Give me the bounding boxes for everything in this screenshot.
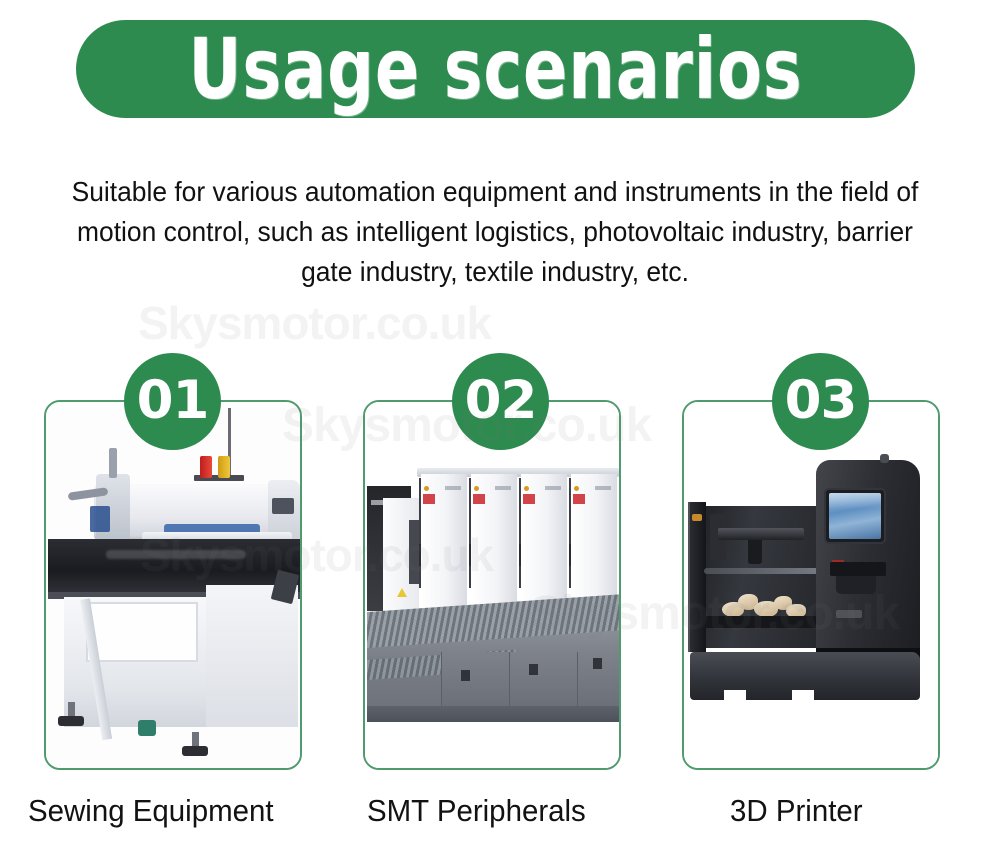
smt-drawer-handle xyxy=(529,664,538,675)
smt-module-label xyxy=(545,486,561,490)
smt-base-drawer xyxy=(509,652,577,710)
printer-door-hinge xyxy=(692,514,702,521)
smt-peripherals-photo xyxy=(365,402,619,768)
card-number-badge-02-label: 02 xyxy=(465,374,537,427)
sewing-needle-post xyxy=(109,448,117,478)
printer-control-shelf xyxy=(830,562,886,576)
card-number-badge-03-label: 03 xyxy=(785,374,857,427)
sewing-worktable-highlight xyxy=(106,550,246,559)
sewing-leveling-foot xyxy=(58,716,84,726)
printer-base-notch xyxy=(724,690,746,702)
printer-open-door xyxy=(690,502,706,652)
smt-status-led xyxy=(424,486,429,491)
sewing-blue-module xyxy=(90,506,110,532)
smt-status-led xyxy=(474,486,479,491)
sewing-equipment-photo xyxy=(46,402,300,768)
card-caption-smt-peripherals: SMT Peripherals xyxy=(367,792,586,830)
card-caption-3d-printer: 3D Printer xyxy=(730,792,863,830)
printer-top-knob xyxy=(880,454,889,463)
scenario-card-3d-printer[interactable] xyxy=(682,400,940,770)
printer-linear-rail xyxy=(704,568,832,574)
smt-base-plinth xyxy=(367,706,621,722)
smt-drawer-handle xyxy=(593,658,602,669)
printer-gantry-beam xyxy=(718,528,804,540)
card-number-badge-03: 03 xyxy=(772,353,869,450)
scenario-card-smt-peripherals[interactable] xyxy=(363,400,621,770)
smt-base-drawer xyxy=(441,652,509,710)
printer-print-head xyxy=(748,540,762,564)
card-number-badge-01: 01 xyxy=(124,353,221,450)
scenario-card-sewing-equipment[interactable] xyxy=(44,400,302,770)
sewing-cabinet-opening xyxy=(86,602,198,662)
smt-module-label xyxy=(595,486,611,490)
smt-status-led xyxy=(524,486,529,491)
sewing-machine-head-panel xyxy=(272,498,294,514)
card-number-badge-01-label: 01 xyxy=(137,374,209,427)
printer-build-plate xyxy=(706,616,818,628)
sewing-caster-wheel xyxy=(138,720,156,736)
3d-printer-photo xyxy=(684,402,938,768)
smt-module-badge xyxy=(423,494,435,504)
sewing-leveling-foot xyxy=(182,746,208,756)
smt-module-badge xyxy=(473,494,485,504)
smt-drawer-handle xyxy=(461,670,470,681)
smt-status-led xyxy=(574,486,579,491)
printer-screen-glare xyxy=(829,493,881,509)
scenario-card-grid: 01 02 03 Sewing Equipment SMT Peripheral… xyxy=(0,0,990,861)
smt-module-label xyxy=(495,486,511,490)
printer-control-recess xyxy=(836,576,876,594)
printer-brand-logo xyxy=(836,610,862,618)
smt-module-badge xyxy=(573,494,585,504)
sewing-thread-spool-yellow xyxy=(218,456,230,478)
smt-module-label xyxy=(445,486,461,490)
sewing-cabinet-right-panel xyxy=(206,585,298,727)
sewing-thread-spool-red xyxy=(200,456,212,478)
smt-module-badge xyxy=(523,494,535,504)
card-caption-sewing-equipment: Sewing Equipment xyxy=(28,792,274,830)
card-number-badge-02: 02 xyxy=(452,353,549,450)
printer-base-notch xyxy=(792,690,814,702)
